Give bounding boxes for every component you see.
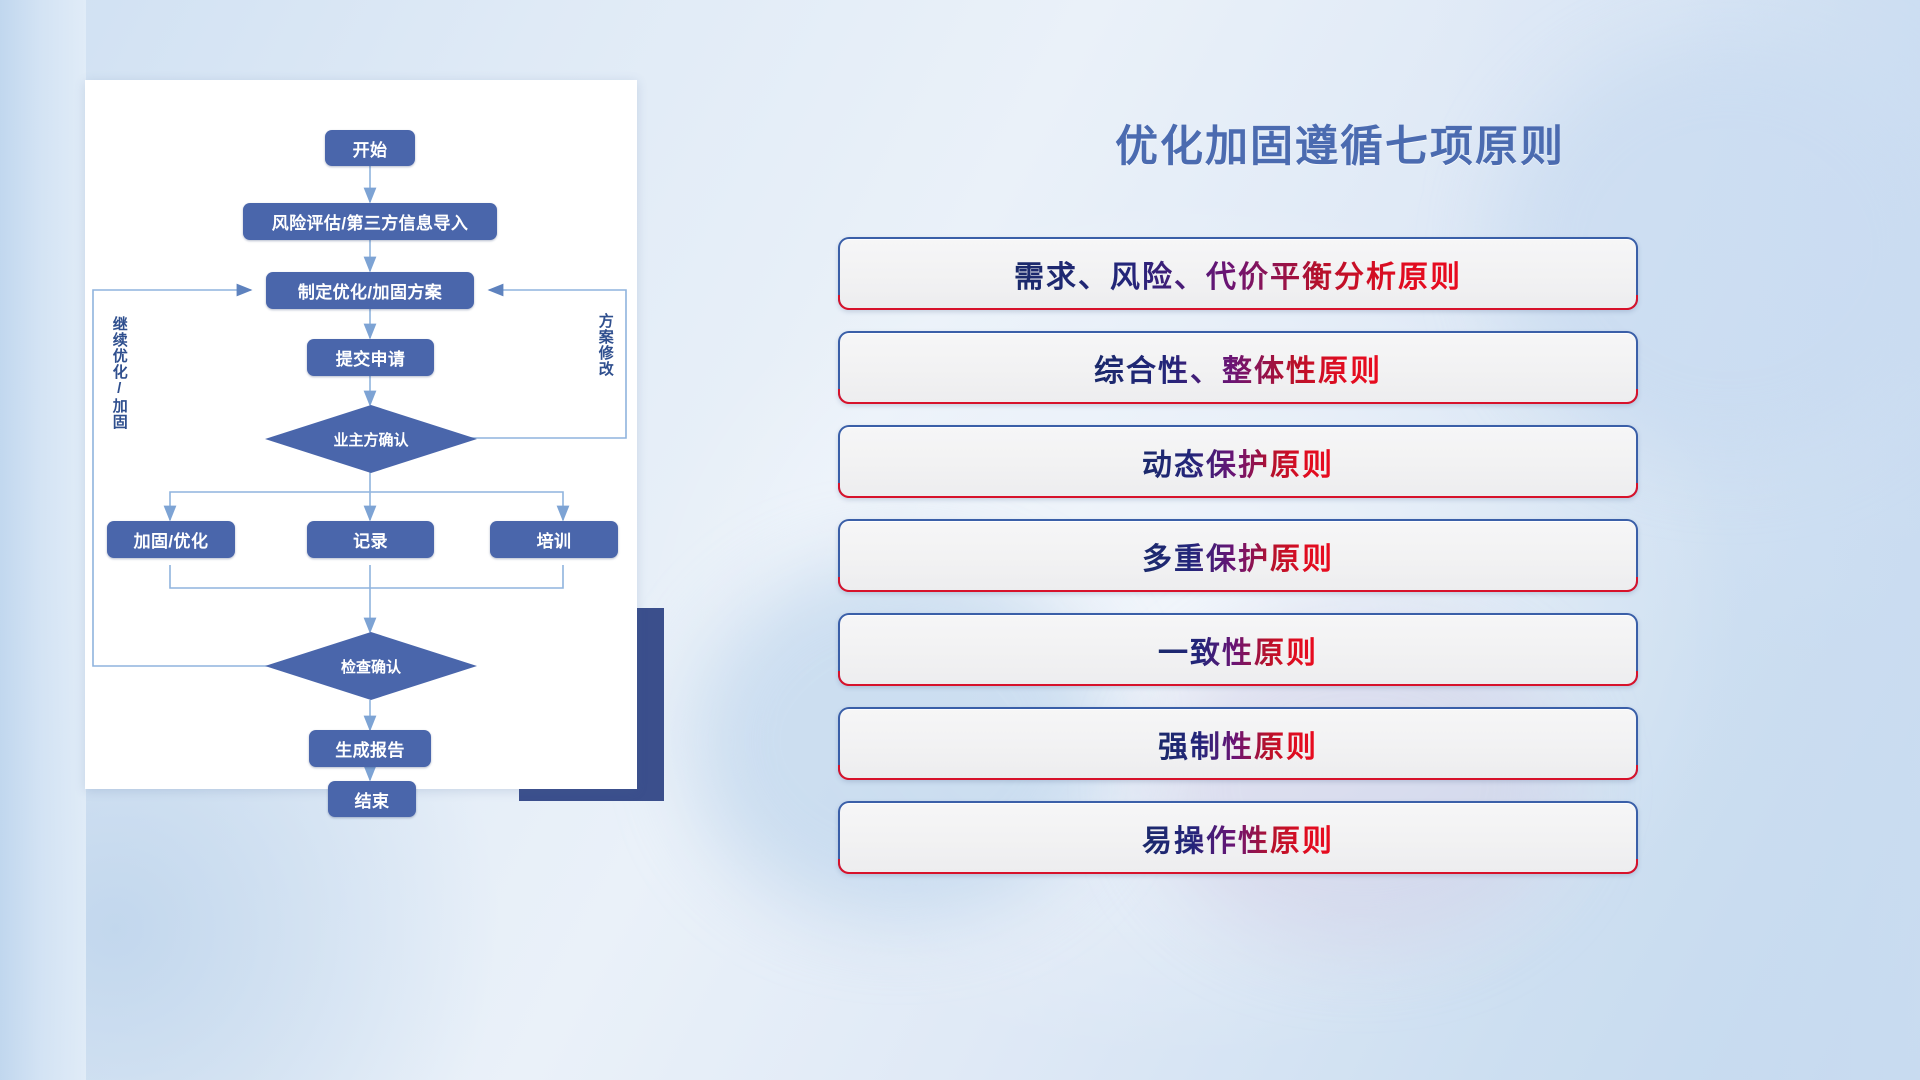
flow-node-reinforce[interactable]: 加固/优化 (107, 521, 235, 558)
flow-edge-label-left-text: 继续优化/加固 (111, 316, 128, 430)
principle-card-1[interactable]: 需求、风险、代价平衡分析原则 (838, 237, 1638, 310)
flow-node-owner-confirm[interactable]: 业主方确认 (265, 405, 477, 473)
principle-card-7[interactable]: 易操作性原则 (838, 801, 1638, 874)
flow-node-check-confirm-label: 检查确认 (341, 656, 401, 677)
flow-node-submit[interactable]: 提交申请 (307, 339, 434, 376)
principles-list: 需求、风险、代价平衡分析原则 综合性、整体性原则 动态保护原则 多重保护原则 一… (838, 237, 1638, 895)
flow-edge-label-right-text: 方案修改 (597, 313, 614, 377)
flow-node-end[interactable]: 结束 (328, 781, 416, 817)
flow-edge-label-right: 方案修改 (597, 313, 613, 377)
flow-node-end-label: 结束 (355, 787, 390, 812)
flow-node-risk-assessment[interactable]: 风险评估/第三方信息导入 (243, 203, 497, 240)
principle-card-4-label: 多重保护原则 (1142, 534, 1334, 578)
flow-node-report-label: 生成报告 (335, 736, 405, 761)
flow-node-owner-confirm-label: 业主方确认 (333, 429, 408, 450)
slide-background: 开始 风险评估/第三方信息导入 制定优化/加固方案 提交申请 业主方确认 加固/… (0, 0, 1920, 1080)
principle-card-5[interactable]: 一致性原则 (838, 613, 1638, 686)
principle-card-4[interactable]: 多重保护原则 (838, 519, 1638, 592)
flowchart-panel: 开始 风险评估/第三方信息导入 制定优化/加固方案 提交申请 业主方确认 加固/… (85, 80, 637, 789)
flow-node-plan[interactable]: 制定优化/加固方案 (266, 272, 474, 309)
principle-card-3-label: 动态保护原则 (1142, 440, 1334, 484)
flow-node-training-label: 培训 (537, 527, 572, 552)
principle-card-7-label: 易操作性原则 (1142, 816, 1334, 860)
flow-node-plan-label: 制定优化/加固方案 (298, 278, 442, 303)
principles-pane: 优化加固遵循七项原则 需求、风险、代价平衡分析原则 综合性、整体性原则 动态保护… (1020, 0, 1920, 1080)
principle-card-6[interactable]: 强制性原则 (838, 707, 1638, 780)
page-title: 优化加固遵循七项原则 (1020, 112, 1660, 174)
flow-node-report[interactable]: 生成报告 (309, 730, 431, 767)
flow-node-submit-label: 提交申请 (336, 345, 406, 370)
flow-node-start-label: 开始 (353, 136, 388, 161)
principle-card-6-label: 强制性原则 (1158, 722, 1318, 766)
flow-node-reinforce-label: 加固/优化 (134, 527, 209, 552)
principle-card-2-label: 综合性、整体性原则 (1094, 346, 1382, 390)
flow-node-start[interactable]: 开始 (325, 130, 415, 166)
principle-card-5-label: 一致性原则 (1158, 628, 1318, 672)
flow-node-record-label: 记录 (353, 527, 388, 552)
flow-node-record[interactable]: 记录 (307, 521, 434, 558)
flow-edge-label-left: 继续优化/加固 (111, 316, 127, 430)
principle-card-3[interactable]: 动态保护原则 (838, 425, 1638, 498)
flow-node-check-confirm[interactable]: 检查确认 (265, 632, 477, 700)
flow-node-risk-assessment-label: 风险评估/第三方信息导入 (272, 209, 469, 234)
principle-card-1-label: 需求、风险、代价平衡分析原则 (1014, 252, 1462, 296)
principle-card-2[interactable]: 综合性、整体性原则 (838, 331, 1638, 404)
flow-node-training[interactable]: 培训 (490, 521, 618, 558)
